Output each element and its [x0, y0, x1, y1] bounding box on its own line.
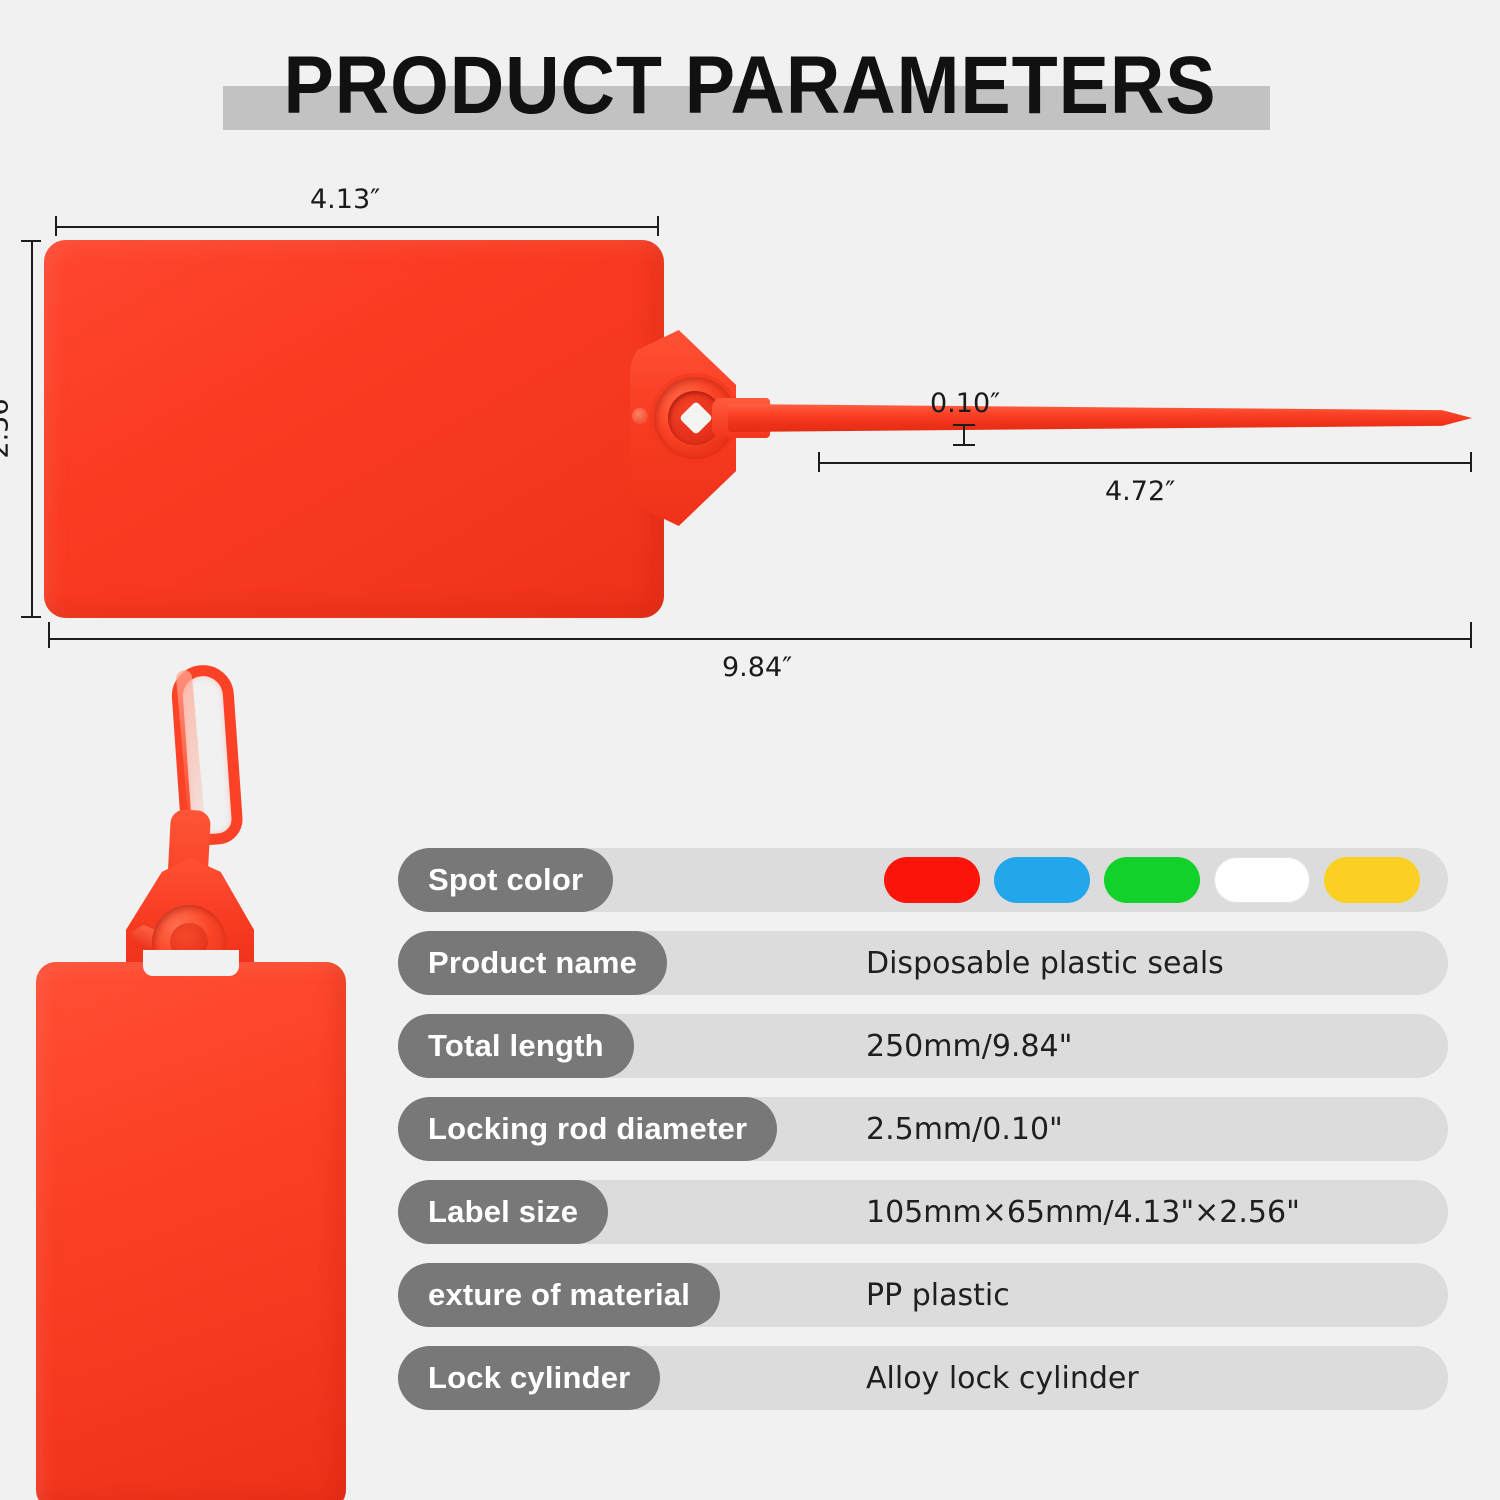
- height-dimension-label: 2.56″: [0, 388, 15, 458]
- rod-diameter-cap-top: [953, 424, 975, 426]
- table-row: exture of material PP plastic: [398, 1263, 1448, 1327]
- strap-length-dimension-line: [818, 462, 1472, 464]
- height-dimension-line: [31, 240, 33, 618]
- swatch-white[interactable]: [1214, 857, 1310, 903]
- height-dimension-tick-bottom: [21, 616, 41, 618]
- table-row: Lock cylinder Alloy lock cylinder: [398, 1346, 1448, 1410]
- spec-label-spot-color: Spot color: [398, 848, 613, 912]
- spot-color-swatches: [884, 848, 1420, 912]
- closed-seal-photo: [0, 650, 400, 1480]
- table-row: Spot color: [398, 848, 1448, 912]
- seal-dimple: [632, 408, 648, 424]
- table-row: Product name Disposable plastic seals: [398, 931, 1448, 995]
- closed-seal-plate-notch: [143, 950, 239, 976]
- title-header: PRODUCT PARAMETERS: [0, 38, 1500, 148]
- width-dimension-label: 4.13″: [310, 184, 380, 215]
- table-row: Total length 250mm/9.84": [398, 1014, 1448, 1078]
- closed-seal-label-plate: [36, 962, 346, 1500]
- rod-diameter-tick: [963, 424, 965, 446]
- swatch-red[interactable]: [884, 857, 980, 903]
- strap-length-tick-left: [818, 452, 820, 472]
- spec-value-locking-rod-diameter: 2.5mm/0.10": [866, 1097, 1063, 1161]
- height-dimension-tick-top: [21, 240, 41, 242]
- spec-value-total-length: 250mm/9.84": [866, 1014, 1072, 1078]
- spec-label-product-name: Product name: [398, 931, 667, 995]
- seal-label-plate: [44, 240, 664, 618]
- swatch-blue[interactable]: [994, 857, 1090, 903]
- spec-table: Spot color Product name Disposable plast…: [398, 848, 1448, 1429]
- spec-label-label-size: Label size: [398, 1180, 608, 1244]
- spec-value-lock-cylinder: Alloy lock cylinder: [866, 1346, 1139, 1410]
- spec-label-lock-cylinder: Lock cylinder: [398, 1346, 660, 1410]
- total-length-tick-left: [48, 622, 50, 648]
- spec-label-locking-rod-diameter: Locking rod diameter: [398, 1097, 777, 1161]
- spec-value-label-size: 105mm×65mm/4.13"×2.56": [866, 1180, 1300, 1244]
- total-length-dimension-line: [48, 638, 1472, 640]
- locking-strap: [728, 404, 1472, 432]
- width-dimension-tick-right: [657, 216, 659, 236]
- total-length-label: 9.84″: [722, 652, 792, 683]
- strap-length-tick-right: [1470, 452, 1472, 472]
- rod-diameter-cap-bottom: [953, 444, 975, 446]
- table-row: Label size 105mm×65mm/4.13"×2.56": [398, 1180, 1448, 1244]
- strap-length-label: 4.72″: [1105, 476, 1175, 507]
- seal-dimension-diagram: 4.13″ 2.56″ 0.10″ 4.72″ 9.84″: [0, 170, 1500, 670]
- spec-value-product-name: Disposable plastic seals: [866, 931, 1224, 995]
- total-length-tick-right: [1470, 622, 1472, 648]
- swatch-yellow[interactable]: [1324, 857, 1420, 903]
- spec-label-total-length: Total length: [398, 1014, 634, 1078]
- width-dimension-line: [55, 226, 659, 228]
- spec-value-texture-of-material: PP plastic: [866, 1263, 1010, 1327]
- product-parameters-infographic: PRODUCT PARAMETERS 4.13″ 2.56″ 0.10″: [0, 0, 1500, 1500]
- page-title: PRODUCT PARAMETERS: [60, 38, 1440, 134]
- swatch-green[interactable]: [1104, 857, 1200, 903]
- width-dimension-tick-left: [55, 216, 57, 236]
- rod-diameter-label: 0.10″: [930, 388, 1000, 419]
- spec-label-texture-of-material: exture of material: [398, 1263, 720, 1327]
- table-row: Locking rod diameter 2.5mm/0.10": [398, 1097, 1448, 1161]
